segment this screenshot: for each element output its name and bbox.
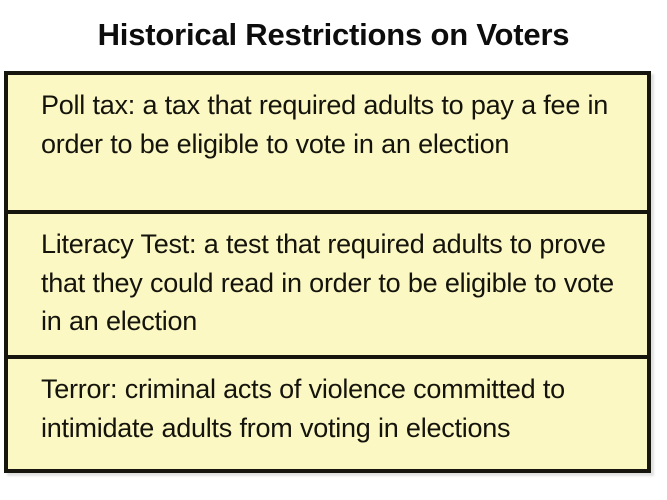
page-title: Historical Restrictions on Voters — [0, 17, 667, 53]
table-cell-definition: Poll tax: a tax that required adults to … — [41, 86, 641, 163]
table-row: Poll tax: a tax that required adults to … — [8, 75, 647, 214]
table-row: Terror: criminal acts of violence commit… — [8, 359, 647, 469]
table-row: Literacy Test: a test that required adul… — [8, 214, 647, 359]
slide-page: Historical Restrictions on Voters Poll t… — [0, 0, 667, 500]
restrictions-table: Poll tax: a tax that required adults to … — [4, 71, 651, 473]
table-cell-definition: Terror: criminal acts of violence commit… — [41, 370, 641, 447]
table-cell-definition: Literacy Test: a test that required adul… — [41, 225, 641, 341]
